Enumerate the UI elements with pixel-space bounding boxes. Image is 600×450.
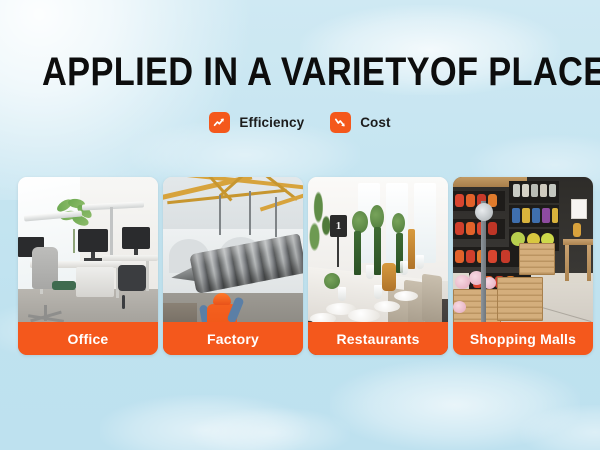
card-caption-text: Factory [207, 331, 259, 347]
card-shopping-malls[interactable]: Shopping Malls [453, 177, 593, 355]
poster-root: APPLIED IN A VARIETYOF PLACES Efficiency… [0, 0, 600, 450]
legend-item-cost: Cost [330, 112, 390, 133]
trend-down-icon [330, 112, 351, 133]
legend: Efficiency Cost [0, 112, 600, 133]
sun-glow [0, 0, 250, 200]
legend-label-efficiency: Efficiency [239, 115, 304, 130]
card-caption-text: Shopping Malls [470, 331, 576, 347]
page-title: APPLIED IN A VARIETYOF PLACES [42, 50, 558, 94]
card-caption-text: Office [68, 331, 109, 347]
card-list: Office [18, 177, 583, 355]
card-office[interactable]: Office [18, 177, 158, 355]
card-restaurants[interactable]: 1 [308, 177, 448, 355]
card-caption-office: Office [18, 322, 158, 355]
card-caption-factory: Factory [163, 322, 303, 355]
card-caption-text: Restaurants [336, 331, 419, 347]
card-factory[interactable]: Factory [163, 177, 303, 355]
card-caption-restaurants: Restaurants [308, 322, 448, 355]
trend-up-icon [209, 112, 230, 133]
legend-label-cost: Cost [360, 115, 390, 130]
legend-item-efficiency: Efficiency [209, 112, 304, 133]
card-caption-shopping-malls: Shopping Malls [453, 322, 593, 355]
table-number-board: 1 [330, 215, 347, 237]
